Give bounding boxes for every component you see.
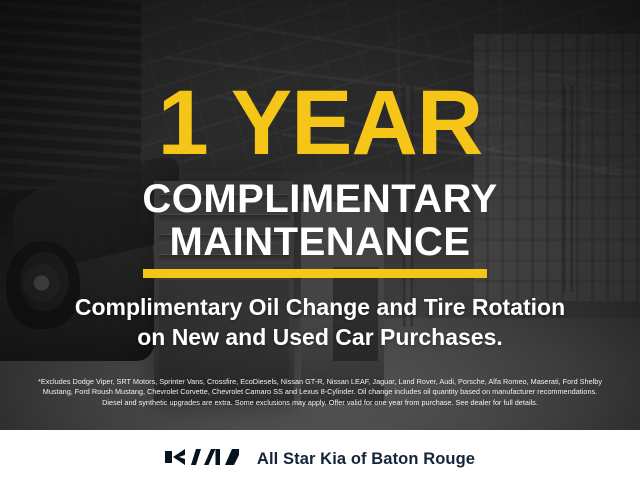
headline-1-year: 1 YEAR xyxy=(0,77,640,169)
subheadline-maintenance: MAINTENANCE xyxy=(0,222,640,262)
yellow-divider-bar xyxy=(143,269,487,278)
disclaimer-line-2: Mustang, Ford Roush Mustang, Chevrolet C… xyxy=(14,387,626,397)
dealer-footer-bar: All Star Kia of Baton Rouge xyxy=(0,430,640,488)
kia-logo xyxy=(165,446,239,473)
disclaimer-text: *Excludes Dodge Viper, SRT Motors, Sprin… xyxy=(14,377,626,408)
subheadline-complimentary: COMPLIMENTARY xyxy=(0,179,640,219)
ad-content: 1 YEAR COMPLIMENTARY MAINTENANCE Complim… xyxy=(0,0,640,430)
disclaimer-line-1: *Excludes Dodge Viper, SRT Motors, Sprin… xyxy=(14,377,626,387)
offer-description-line-2: on New and Used Car Purchases. xyxy=(0,324,640,351)
offer-description-line-1: Complimentary Oil Change and Tire Rotati… xyxy=(0,294,640,321)
disclaimer-line-3: Diesel and synthetic upgrades are extra.… xyxy=(14,398,626,408)
promotional-ad-banner: 1 YEAR COMPLIMENTARY MAINTENANCE Complim… xyxy=(0,0,640,488)
dealer-name-label: All Star Kia of Baton Rouge xyxy=(257,450,475,469)
